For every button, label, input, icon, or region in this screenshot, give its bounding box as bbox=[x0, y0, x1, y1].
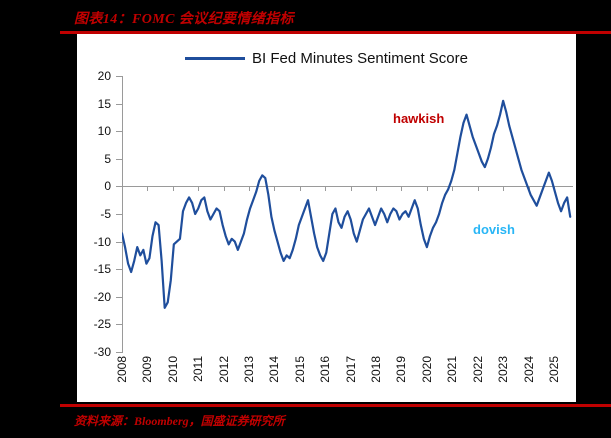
x-tick-label: 2011 bbox=[191, 356, 205, 382]
x-tick-label: 2009 bbox=[140, 356, 154, 383]
chart-card: BI Fed Minutes Sentiment Score 20151050-… bbox=[77, 34, 576, 402]
x-tick-label: 2012 bbox=[217, 356, 231, 383]
x-tick-label: 2015 bbox=[293, 356, 307, 383]
x-tick-label: 2023 bbox=[496, 356, 510, 383]
y-tick-label: -10 bbox=[77, 236, 111, 248]
legend: BI Fed Minutes Sentiment Score bbox=[77, 50, 576, 67]
x-tick-label: 2021 bbox=[445, 356, 459, 383]
series-line-bi-fed-minutes-sentiment-score bbox=[122, 76, 573, 352]
x-tick-label: 2014 bbox=[267, 356, 281, 383]
annotation-hawkish: hawkish bbox=[393, 111, 444, 126]
x-tick-label: 2008 bbox=[115, 356, 129, 383]
y-tick-label: -20 bbox=[77, 291, 111, 303]
x-tick-label: 2013 bbox=[242, 356, 256, 383]
y-tick-label: -15 bbox=[77, 263, 111, 275]
x-tick-label: 2019 bbox=[394, 356, 408, 383]
y-tick bbox=[116, 352, 122, 353]
source-note: 资料来源：Bloomberg，国盛证券研究所 bbox=[74, 412, 285, 429]
x-tick-label: 2018 bbox=[369, 356, 383, 383]
x-tick-label: 2020 bbox=[420, 356, 434, 383]
y-tick-label: 5 bbox=[77, 153, 111, 165]
x-tick-label: 2017 bbox=[344, 356, 358, 383]
y-tick-label: 15 bbox=[77, 98, 111, 110]
rule-bottom bbox=[60, 404, 611, 407]
legend-label-series: BI Fed Minutes Sentiment Score bbox=[252, 50, 468, 67]
y-tick-label: 0 bbox=[77, 180, 111, 192]
chart-page: 图表14：FOMC 会议纪要情绪指标 BI Fed Minutes Sentim… bbox=[0, 0, 611, 438]
y-tick-label: -30 bbox=[77, 346, 111, 358]
x-tick-label: 2016 bbox=[318, 356, 332, 383]
x-tick-label: 2025 bbox=[547, 356, 561, 383]
y-tick-label: 20 bbox=[77, 70, 111, 82]
x-tick-label: 2010 bbox=[166, 356, 180, 383]
x-tick-label: 2024 bbox=[522, 356, 536, 383]
page-title: 图表14：FOMC 会议纪要情绪指标 bbox=[74, 8, 294, 28]
x-tick-label: 2022 bbox=[471, 356, 485, 383]
y-tick-label: -5 bbox=[77, 208, 111, 220]
plot-area bbox=[122, 76, 573, 352]
y-tick-label: -25 bbox=[77, 318, 111, 330]
y-tick-label: 10 bbox=[77, 125, 111, 137]
annotation-dovish: dovish bbox=[473, 222, 515, 237]
legend-swatch-series bbox=[185, 57, 245, 60]
